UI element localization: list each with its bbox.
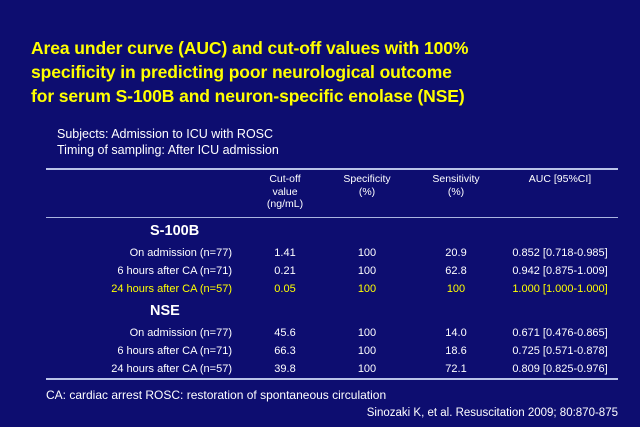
cell-sensitivity: 72.1 (410, 360, 502, 378)
group-header-row: S-100B (46, 218, 618, 244)
cell-sensitivity: 100 (410, 280, 502, 298)
subtitle-timing: Timing of sampling: After ICU admission (57, 142, 279, 158)
group-header-label: NSE (46, 298, 618, 324)
table-row: 6 hours after CA (n=71)66.310018.60.725 … (46, 342, 618, 360)
cell-specificity: 100 (324, 280, 410, 298)
cell-auc: 0.725 [0.571-0.878] (502, 342, 618, 360)
cell-specificity: 100 (324, 342, 410, 360)
column-header-auc-line-1: AUC [95%CI] (502, 173, 618, 186)
cell-sensitivity: 18.6 (410, 342, 502, 360)
column-header-specificity-line-2: (%) (324, 186, 410, 199)
cell-sensitivity: 62.8 (410, 262, 502, 280)
results-table-container: Cut-off value (ng/mL) Specificity (%) Se… (46, 168, 618, 380)
row-label-timepoint: On admission (n=77) (46, 324, 246, 342)
cell-specificity: 100 (324, 244, 410, 262)
cell-cutoff-value: 45.6 (246, 324, 324, 342)
cell-cutoff-value: 0.05 (246, 280, 324, 298)
column-header-measure (46, 170, 246, 217)
column-header-cutoff-line-1: Cut-off (246, 173, 324, 186)
results-table-body: S-100BOn admission (n=77)1.4110020.90.85… (46, 218, 618, 378)
cell-cutoff-value: 39.8 (246, 360, 324, 378)
cell-auc: 0.942 [0.875-1.009] (502, 262, 618, 280)
table-row: 6 hours after CA (n=71)0.2110062.80.942 … (46, 262, 618, 280)
cell-sensitivity: 20.9 (410, 244, 502, 262)
table-header-row-group: Cut-off value (ng/mL) Specificity (%) Se… (46, 170, 618, 217)
cell-auc: 0.671 [0.476-0.865] (502, 324, 618, 342)
cell-auc: 0.852 [0.718-0.985] (502, 244, 618, 262)
slide-canvas: Area under curve (AUC) and cut-off value… (0, 0, 640, 427)
column-header-auc: AUC [95%CI] (502, 170, 618, 217)
cell-specificity: 100 (324, 324, 410, 342)
results-table-rows: S-100BOn admission (n=77)1.4110020.90.85… (46, 218, 618, 378)
column-header-specificity: Specificity (%) (324, 170, 410, 217)
subtitle-subjects: Subjects: Admission to ICU with ROSC (57, 126, 279, 142)
table-header-row: Cut-off value (ng/mL) Specificity (%) Se… (46, 170, 618, 217)
abbreviations-note: CA: cardiac arrest ROSC: restoration of … (46, 388, 386, 402)
cell-sensitivity: 14.0 (410, 324, 502, 342)
table-row: 24 hours after CA (n=57)39.810072.10.809… (46, 360, 618, 378)
citation-reference: Sinozaki K, et al. Resuscitation 2009; 8… (367, 407, 618, 419)
cell-cutoff-value: 1.41 (246, 244, 324, 262)
row-label-timepoint: 6 hours after CA (n=71) (46, 342, 246, 360)
group-header-label: S-100B (46, 218, 618, 244)
row-label-timepoint: 24 hours after CA (n=57) (46, 280, 246, 298)
column-header-specificity-line-1: Specificity (324, 173, 410, 186)
row-label-timepoint: 24 hours after CA (n=57) (46, 360, 246, 378)
column-header-sensitivity: Sensitivity (%) (410, 170, 502, 217)
table-row: On admission (n=77)1.4110020.90.852 [0.7… (46, 244, 618, 262)
slide-subtitle: Subjects: Admission to ICU with ROSC Tim… (57, 126, 279, 158)
slide-title-line-2: specificity in predicting poor neurologi… (31, 60, 621, 84)
column-header-cutoff: Cut-off value (ng/mL) (246, 170, 324, 217)
slide-title: Area under curve (AUC) and cut-off value… (31, 36, 621, 108)
row-label-timepoint: 6 hours after CA (n=71) (46, 262, 246, 280)
results-table: Cut-off value (ng/mL) Specificity (%) Se… (46, 170, 618, 217)
column-header-cutoff-line-2: value (246, 186, 324, 199)
row-label-timepoint: On admission (n=77) (46, 244, 246, 262)
slide-title-line-3: for serum S-100B and neuron-specific eno… (31, 84, 621, 108)
table-bottom-rule (46, 378, 618, 380)
column-header-sensitivity-line-2: (%) (410, 186, 502, 199)
slide-title-line-1: Area under curve (AUC) and cut-off value… (31, 36, 621, 60)
table-row: On admission (n=77)45.610014.00.671 [0.4… (46, 324, 618, 342)
cell-cutoff-value: 0.21 (246, 262, 324, 280)
group-header-row: NSE (46, 298, 618, 324)
column-header-cutoff-line-3: (ng/mL) (246, 198, 324, 211)
cell-auc: 0.809 [0.825-0.976] (502, 360, 618, 378)
cell-auc: 1.000 [1.000-1.000] (502, 280, 618, 298)
column-header-sensitivity-line-1: Sensitivity (410, 173, 502, 186)
cell-specificity: 100 (324, 360, 410, 378)
cell-specificity: 100 (324, 262, 410, 280)
cell-cutoff-value: 66.3 (246, 342, 324, 360)
table-row: 24 hours after CA (n=57)0.051001001.000 … (46, 280, 618, 298)
